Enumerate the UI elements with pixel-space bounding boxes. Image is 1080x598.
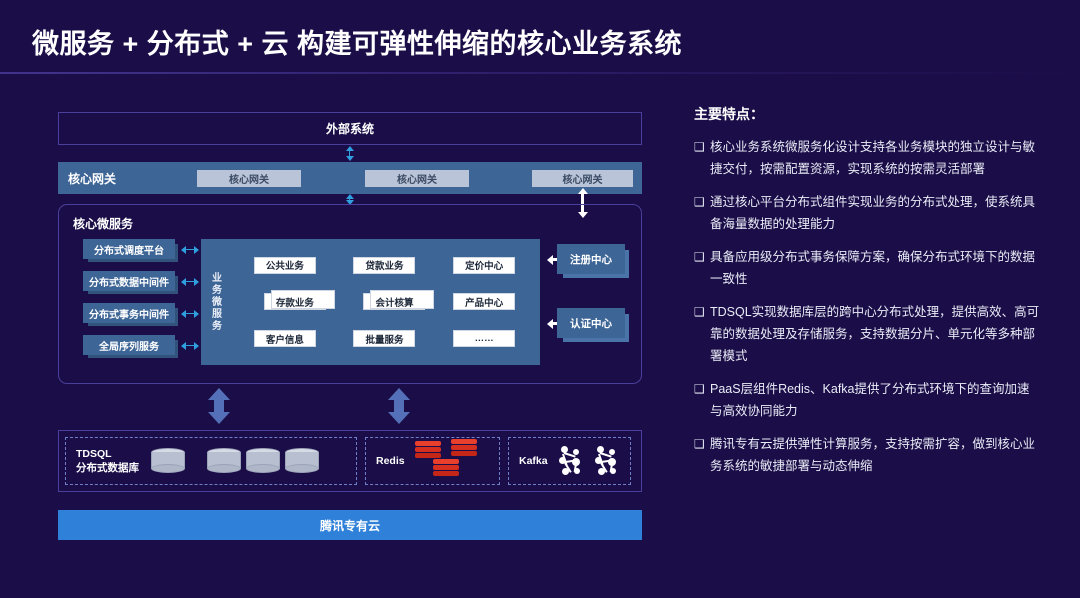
bullet-square-icon: ❑ <box>694 301 710 367</box>
gateway-label: 核心网关 <box>68 170 152 187</box>
middleware-chip-sequence: 全局序列服务 <box>83 335 175 355</box>
middleware-chip-scheduling: 分布式调度平台 <box>83 239 175 259</box>
arrow-core-to-data-left <box>208 388 230 424</box>
middleware-chip-transaction: 分布式事务中间件 <box>83 303 175 323</box>
bullet-square-icon: ❑ <box>694 136 710 180</box>
feature-text: 通过核心平台分布式组件实现业务的分布式处理，使系统具备海量数据的处理能力 <box>710 191 1040 235</box>
core-microservices-title: 核心微服务 <box>73 215 133 232</box>
feature-text: 核心业务系统微服务化设计支持各业务模块的独立设计与敏捷交付，按需配置资源，实现系… <box>710 136 1040 180</box>
business-microservices-label: 业务微服务 <box>201 239 229 365</box>
arrow-middleware-1 <box>181 245 199 254</box>
registry-center-chip: 注册中心 <box>557 244 625 274</box>
database-cylinder-icon <box>285 448 319 474</box>
feature-item: ❑ 腾讯专有云提供弹性计算服务，支持按需扩容，做到核心业务系统的敏捷部署与动态伸… <box>694 433 1040 477</box>
core-microservices-container: 核心微服务 分布式调度平台 分布式数据中间件 分布式事务中间件 全局序列服务 业… <box>58 204 642 384</box>
external-system-box: 外部系统 <box>58 112 642 145</box>
gateway-chip-2: 核心网关 <box>365 170 469 187</box>
feature-item: ❑ TDSQL实现数据库层的跨中心分布式处理，提供高效、高可靠的数据处理及存储服… <box>694 301 1040 367</box>
feature-item: ❑ 通过核心平台分布式组件实现业务的分布式处理，使系统具备海量数据的处理能力 <box>694 191 1040 235</box>
business-card-grid: 公共业务 贷款业务 定价中心 存款业务 会计核算 产品中心 客户信息 批量服务 … <box>229 239 540 365</box>
bullet-square-icon: ❑ <box>694 378 710 422</box>
business-card-cell: …… <box>434 320 534 357</box>
bullet-square-icon: ❑ <box>694 246 710 290</box>
feature-item: ❑ 具备应用级分布式事务保障方案，确保分布式环境下的数据一致性 <box>694 246 1040 290</box>
middleware-chip-data: 分布式数据中间件 <box>83 271 175 291</box>
business-card-cell: 批量服务 <box>335 320 435 357</box>
business-card-cell: 会计核算 <box>335 284 435 321</box>
arrow-external-to-gateway <box>345 146 354 161</box>
feature-text: 腾讯专有云提供弹性计算服务，支持按需扩容，做到核心业务系统的敏捷部署与动态伸缩 <box>710 433 1040 477</box>
tencent-private-cloud-bar: 腾讯专有云 <box>58 510 642 540</box>
key-features-panel: 主要特点： ❑ 核心业务系统微服务化设计支持各业务模块的独立设计与敏捷交付，按需… <box>694 104 1040 488</box>
business-card: 批量服务 <box>353 330 415 347</box>
business-card-cell: 定价中心 <box>434 247 534 284</box>
database-cylinder-group <box>151 448 319 474</box>
business-card: 定价中心 <box>453 257 515 274</box>
slide-canvas: 微服务 + 分布式 + 云 构建可弹性伸缩的核心业务系统 外部系统 核心网关 核… <box>0 0 1080 598</box>
tdsql-box: TDSQL 分布式数据库 <box>65 437 357 485</box>
arrow-middleware-4 <box>181 341 199 350</box>
gateway-chip-3: 核心网关 <box>532 170 633 187</box>
kafka-label: Kafka <box>519 454 548 468</box>
business-card: 存款业务 <box>264 293 326 310</box>
database-cylinder-icon <box>207 448 241 474</box>
title-divider <box>0 72 1080 74</box>
business-microservices-panel: 业务微服务 公共业务 贷款业务 定价中心 存款业务 会计核算 产品中心 客户信息… <box>201 239 540 365</box>
gateway-band: 核心网关 核心网关 核心网关 核心网关 <box>58 162 642 194</box>
feature-item: ❑ 核心业务系统微服务化设计支持各业务模块的独立设计与敏捷交付，按需配置资源，实… <box>694 136 1040 180</box>
business-card: 公共业务 <box>254 257 316 274</box>
business-card-cell: 贷款业务 <box>335 247 435 284</box>
data-layer-row: TDSQL 分布式数据库 Redis <box>58 430 642 492</box>
kafka-cluster-icon <box>594 446 620 476</box>
kafka-box: Kafka <box>508 437 631 485</box>
business-card: 产品中心 <box>453 293 515 310</box>
redis-box: Redis <box>365 437 500 485</box>
page-title: 微服务 + 分布式 + 云 构建可弹性伸缩的核心业务系统 <box>32 22 682 61</box>
database-cylinder-icon <box>246 448 280 474</box>
feature-text: PaaS层组件Redis、Kafka提供了分布式环境下的查询加速与高效协同能力 <box>710 378 1040 422</box>
bullet-square-icon: ❑ <box>694 433 710 477</box>
redis-label: Redis <box>376 454 405 468</box>
bullet-square-icon: ❑ <box>694 191 710 235</box>
tdsql-label-line1: TDSQL <box>76 448 112 460</box>
kafka-cluster-icon <box>558 446 584 476</box>
business-card: …… <box>453 330 515 347</box>
external-system-label: 外部系统 <box>326 120 374 137</box>
business-card: 会计核算 <box>363 293 425 310</box>
key-features-title: 主要特点： <box>694 104 1040 124</box>
architecture-diagram: 外部系统 核心网关 核心网关 核心网关 核心网关 核心微服务 分布式调度平台 分… <box>58 112 642 544</box>
arrow-core-to-data-right <box>388 388 410 424</box>
business-card: 贷款业务 <box>353 257 415 274</box>
auth-center-chip: 认证中心 <box>557 308 625 338</box>
business-card-cell: 公共业务 <box>235 247 335 284</box>
tdsql-label-line2: 分布式数据库 <box>76 462 139 474</box>
feature-text: TDSQL实现数据库层的跨中心分布式处理，提供高效、高可靠的数据处理及存储服务，… <box>710 301 1040 367</box>
gateway-chip-1: 核心网关 <box>197 170 301 187</box>
business-card: 客户信息 <box>254 330 316 347</box>
arrow-middleware-3 <box>181 309 199 318</box>
business-card-cell: 存款业务 <box>235 284 335 321</box>
business-card-cell: 产品中心 <box>434 284 534 321</box>
redis-cube-icon <box>413 439 483 483</box>
feature-text: 具备应用级分布式事务保障方案，确保分布式环境下的数据一致性 <box>710 246 1040 290</box>
tdsql-label: TDSQL 分布式数据库 <box>76 447 139 475</box>
database-cylinder-icon <box>151 448 185 474</box>
feature-item: ❑ PaaS层组件Redis、Kafka提供了分布式环境下的查询加速与高效协同能… <box>694 378 1040 422</box>
arrow-middleware-2 <box>181 277 199 286</box>
business-card-cell: 客户信息 <box>235 320 335 357</box>
tencent-private-cloud-label: 腾讯专有云 <box>320 517 380 534</box>
